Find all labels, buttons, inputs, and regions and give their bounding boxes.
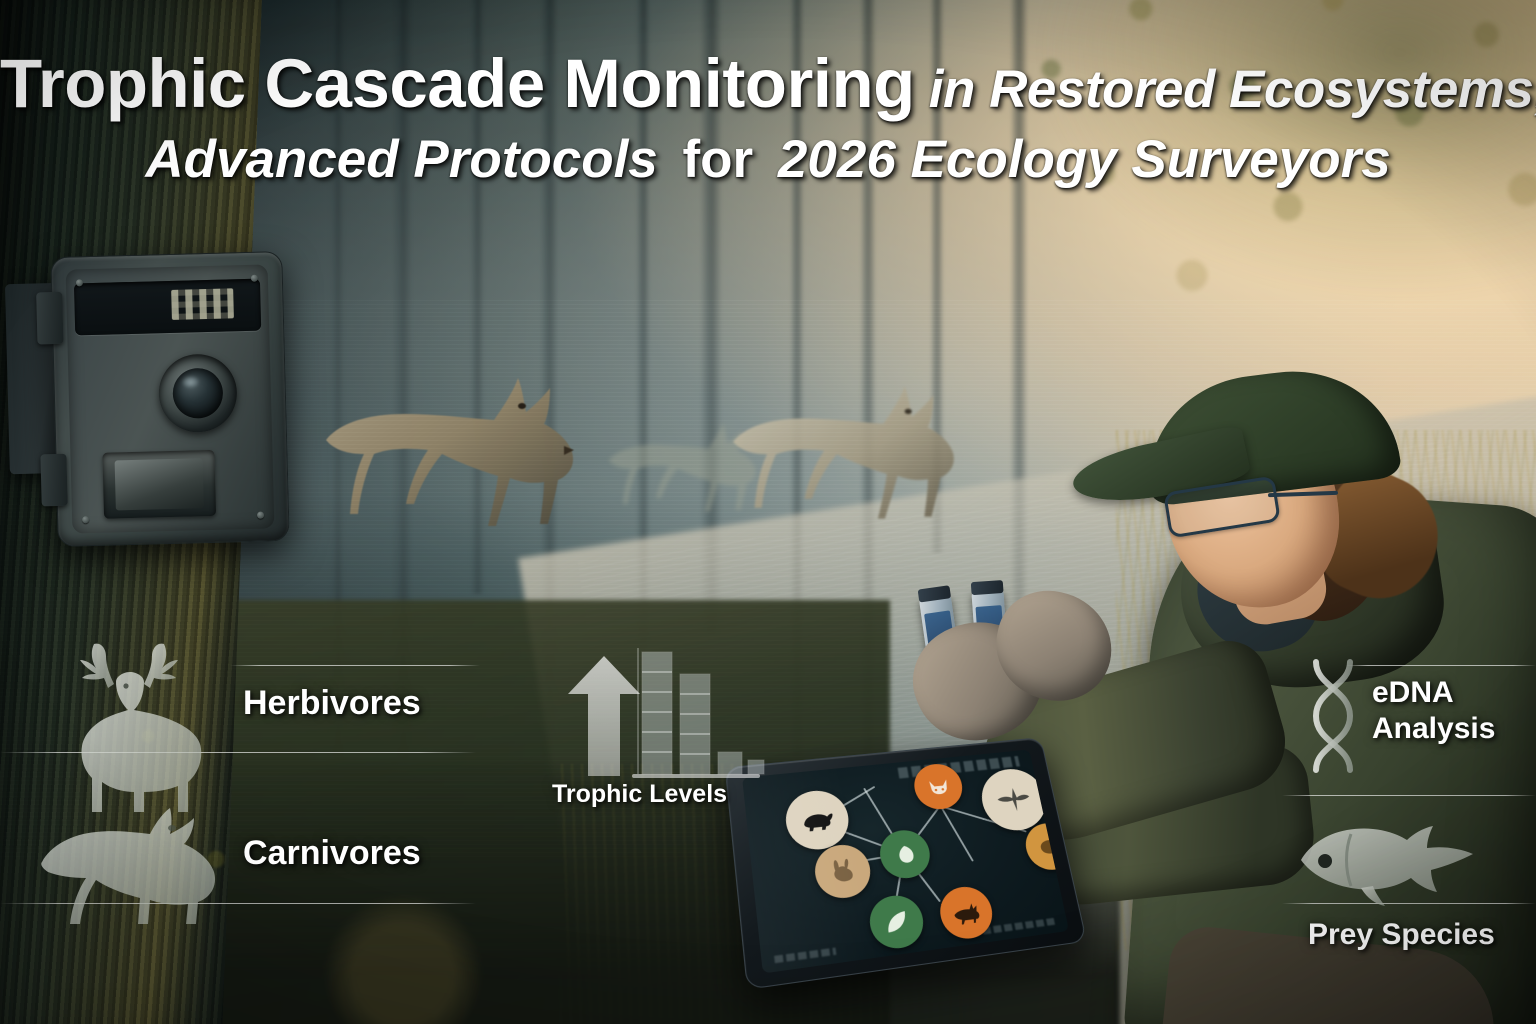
vignette-overlay: [0, 0, 1536, 1024]
poster-scene: Trophic Levels Herbivores: [0, 0, 1536, 1024]
